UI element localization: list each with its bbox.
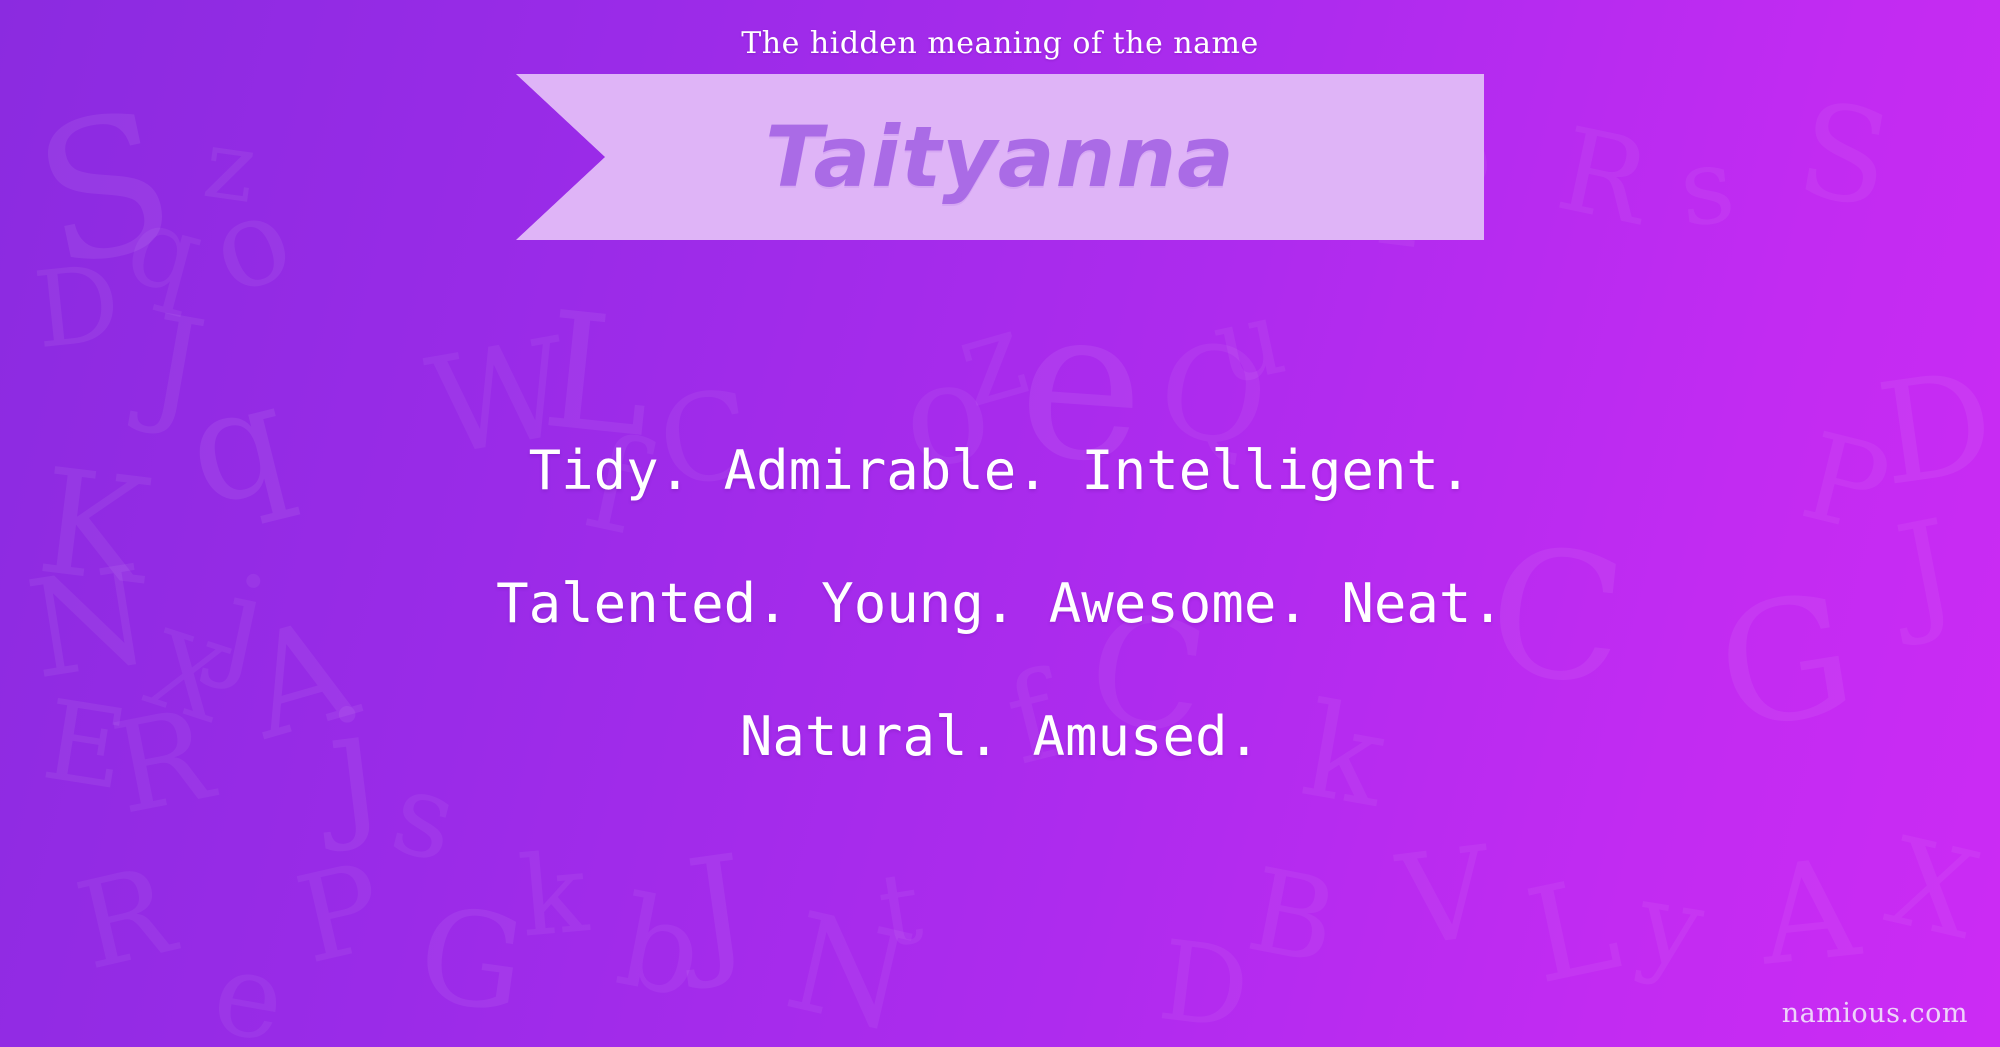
decorative-letter: D bbox=[30, 251, 125, 364]
decorative-letter: e bbox=[206, 935, 293, 1047]
decorative-letter: R bbox=[68, 851, 183, 988]
name-text: Taityanna bbox=[765, 108, 1235, 206]
page-title: The hidden meaning of the name bbox=[0, 26, 2000, 61]
decorative-letter: D bbox=[1154, 925, 1255, 1045]
site-watermark: namious.com bbox=[1782, 998, 1968, 1029]
decorative-letter: S bbox=[22, 84, 189, 297]
decorative-letter: s bbox=[1675, 132, 1740, 242]
decorative-letter: A bbox=[1753, 840, 1864, 984]
decorative-letter: y bbox=[1632, 866, 1711, 984]
decorative-letter: o bbox=[197, 176, 306, 313]
decorative-letter: b bbox=[609, 879, 711, 1017]
decorative-letter: S bbox=[1789, 83, 1899, 226]
decorative-letter: q bbox=[117, 188, 213, 312]
name-meaning-card: SzoqDJqKNjAERXjsWLPGkbJNtezQuYoRsSDPJCGC… bbox=[0, 0, 2000, 1047]
decorative-letter: z bbox=[199, 117, 262, 218]
meaning-text-block: Tidy. Admirable. Intelligent. Talented. … bbox=[0, 404, 2000, 803]
decorative-letter: B bbox=[1240, 853, 1345, 982]
decorative-letter: L bbox=[1517, 857, 1628, 1002]
decorative-letter: N bbox=[776, 893, 921, 1047]
decorative-letter: R bbox=[1549, 112, 1658, 242]
decorative-letter: P bbox=[288, 847, 394, 982]
meaning-line: Talented. Young. Awesome. Neat. bbox=[0, 537, 2000, 670]
decorative-letter: u bbox=[1205, 284, 1293, 401]
decorative-letter: t bbox=[872, 857, 927, 962]
decorative-letter: k bbox=[515, 837, 591, 952]
meaning-line: Natural. Amused. bbox=[0, 670, 2000, 803]
decorative-letter: J bbox=[681, 837, 756, 983]
decorative-letter: V bbox=[1393, 830, 1498, 965]
decorative-letter: G bbox=[411, 888, 532, 1031]
meaning-line: Tidy. Admirable. Intelligent. bbox=[0, 404, 2000, 537]
decorative-letter: X bbox=[1878, 822, 1988, 958]
name-ribbon-banner: Taityanna bbox=[516, 74, 1484, 240]
